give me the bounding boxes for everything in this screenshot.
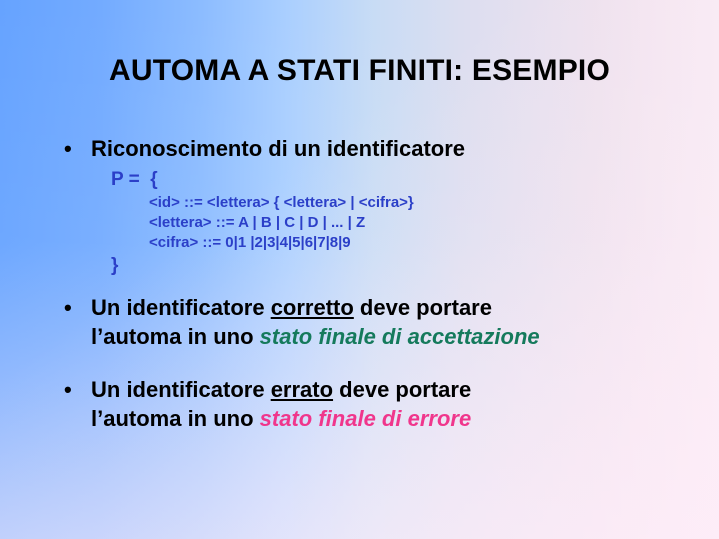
grammar-close-brace: } <box>60 253 710 279</box>
slide-content: AUTOMA A STATI FINITI: ESEMPIO • Riconos… <box>0 0 719 539</box>
grammar-open-brace: P = { <box>60 167 710 193</box>
list-item-corretto: • Un identificatore corretto deve portar… <box>60 293 710 351</box>
list-item-riconoscimento: • Riconoscimento di un identificatore <box>60 134 710 163</box>
emphasis-error-state: stato finale di errore <box>260 406 472 431</box>
emphasis-underline-errato: errato <box>271 377 333 402</box>
emphasis-accept-state: stato finale di accettazione <box>260 324 540 349</box>
bullet-dot-icon: • <box>64 293 72 322</box>
page-title: AUTOMA A STATI FINITI: ESEMPIO <box>0 54 719 88</box>
list-item-text-part-c: l’automa in uno <box>91 406 260 431</box>
list-item-text-part-b: deve portare <box>354 295 492 320</box>
bullet-dot-icon: • <box>64 134 72 163</box>
slide-canvas: AUTOMA A STATI FINITI: ESEMPIO • Riconos… <box>0 0 719 539</box>
bullet-dot-icon: • <box>64 375 72 404</box>
emphasis-underline-corretto: corretto <box>271 295 354 320</box>
grammar-block: P = { <id> ::= <lettera> { <lettera> | <… <box>60 167 710 279</box>
grammar-rule-id: <id> ::= <lettera> { <lettera> | <cifra>… <box>149 193 710 213</box>
list-item-text: Riconoscimento di un identificatore <box>91 136 465 161</box>
list-item-errato: • Un identificatore errato deve portare … <box>60 375 710 433</box>
list-item-line2: l’automa in uno stato finale di errore <box>91 404 710 433</box>
grammar-rule-list: <id> ::= <lettera> { <lettera> | <cifra>… <box>60 193 710 253</box>
slide-body: • Riconoscimento di un identificatore P … <box>60 134 710 433</box>
list-item-text-part-c: l’automa in uno <box>91 324 260 349</box>
list-item-text-part-b: deve portare <box>333 377 471 402</box>
list-item-text-part-a: Un identificatore <box>91 295 271 320</box>
list-item-text-part-a: Un identificatore <box>91 377 271 402</box>
grammar-rule-cifra: <cifra> ::= 0|1 |2|3|4|5|6|7|8|9 <box>149 233 710 253</box>
list-item-line2: l’automa in uno stato finale di accettaz… <box>91 322 710 351</box>
grammar-rule-lettera: <lettera> ::= A | B | C | D | ... | Z <box>149 213 710 233</box>
